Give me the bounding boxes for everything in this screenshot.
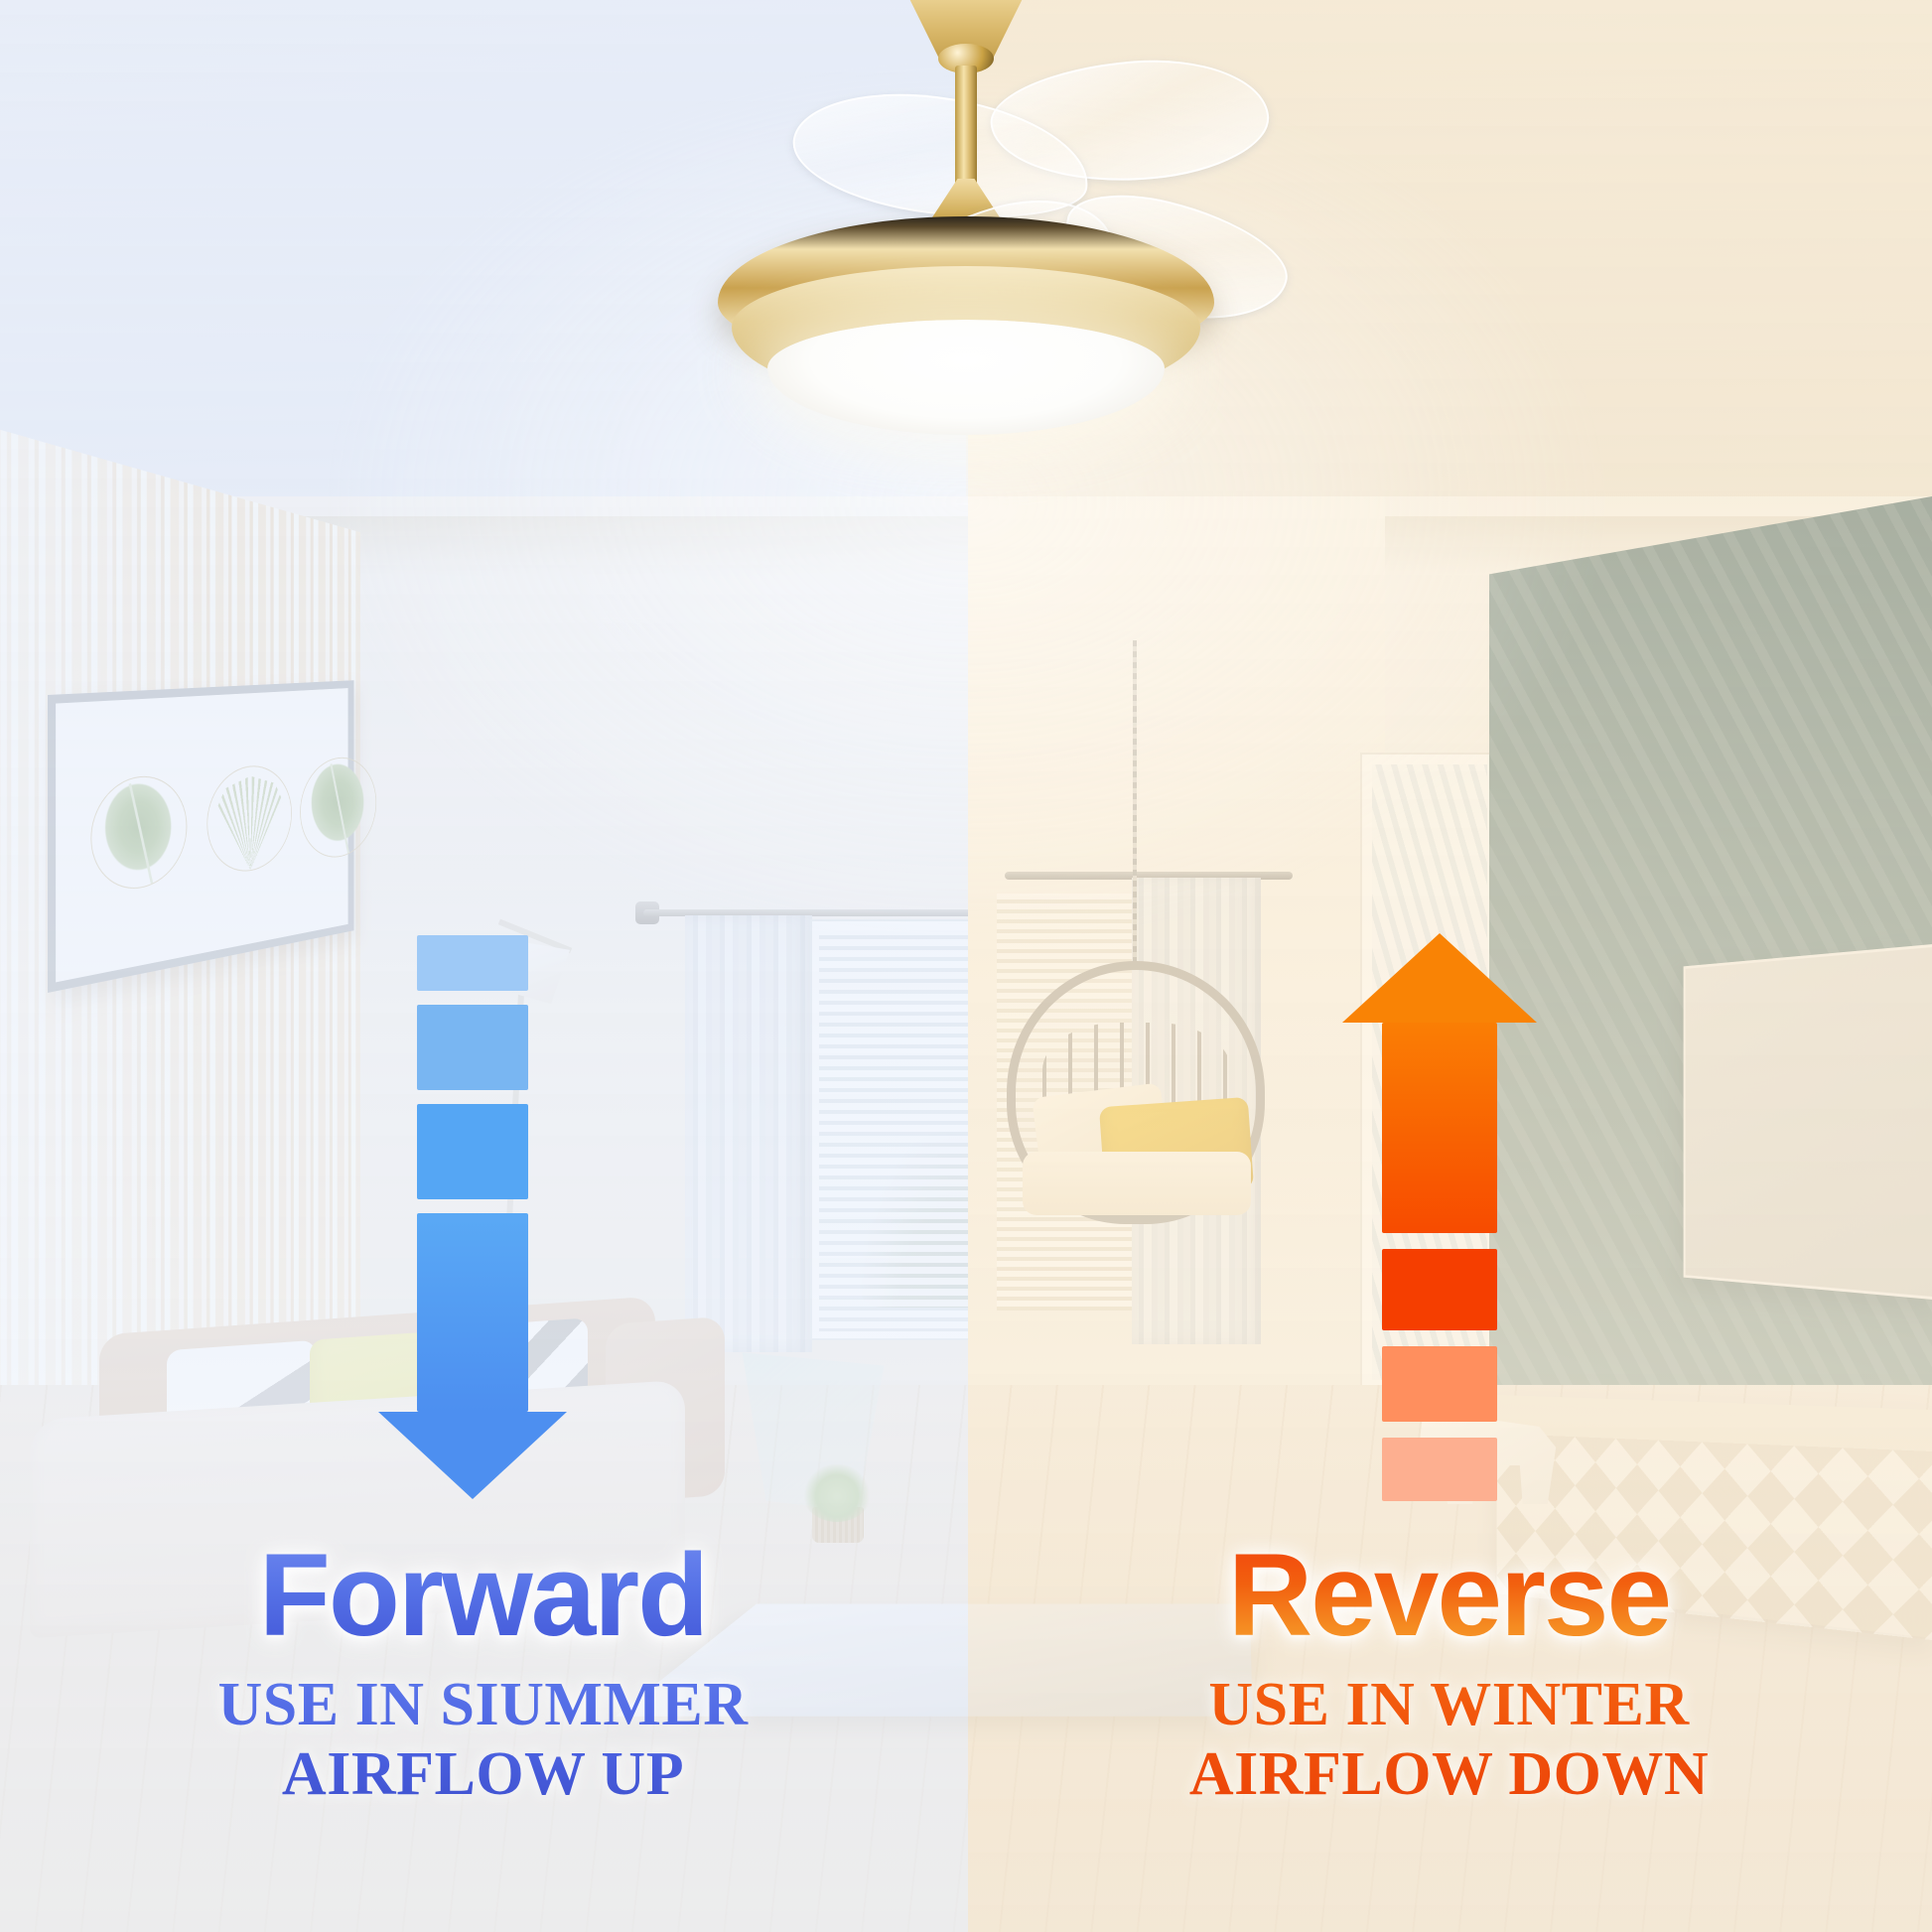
upward-airflow-arrow [1382,933,1497,1501]
wall-mounted-television [1684,943,1932,1301]
airflow-segment-3 [417,1104,528,1199]
egg-chair-cushion [1023,1152,1251,1215]
airflow-segment-2 [1382,1346,1497,1422]
reverse-heading: Reverse [966,1537,1932,1654]
forward-subtext-line-2: AIRFLOW UP [0,1739,966,1809]
palm-leaf-panel [209,753,289,887]
fan-downrod [955,66,977,195]
sheer-curtain [685,915,812,1352]
reverse-subtext-line-1: USE IN WINTER [966,1670,1932,1739]
reverse-subtext: USE IN WINTER AIRFLOW DOWN [966,1670,1932,1809]
egg-chair-chain [1133,640,1137,968]
monstera-leaf-panel [85,757,192,911]
airflow-segment-3 [1382,1438,1497,1501]
forward-heading: Forward [0,1537,966,1654]
airflow-arrow-shaft [417,1213,528,1412]
airflow-segment-1 [1382,1249,1497,1330]
ceiling-fan [465,0,1467,477]
reverse-label-block: Reverse USE IN WINTER AIRFLOW DOWN [966,1537,1932,1809]
reverse-subtext-line-2: AIRFLOW DOWN [966,1739,1932,1809]
airflow-segment-1 [417,935,528,991]
downward-airflow-arrow [417,935,528,1499]
label-row: Forward USE IN SIUMMER AIRFLOW UP Revers… [0,1537,1932,1932]
forward-subtext: USE IN SIUMMER AIRFLOW UP [0,1670,966,1809]
infographic-stage: Forward USE IN SIUMMER AIRFLOW UP Revers… [0,0,1932,1932]
forward-subtext-line-1: USE IN SIUMMER [0,1670,966,1739]
fan-led-light-dome [767,320,1165,435]
monstera-leaf-panel-2 [303,746,374,873]
forward-label-block: Forward USE IN SIUMMER AIRFLOW UP [0,1537,966,1809]
airflow-segment-2 [417,1005,528,1090]
succulent-plant [802,1464,872,1522]
airflow-arrow-shaft [1382,1023,1497,1233]
